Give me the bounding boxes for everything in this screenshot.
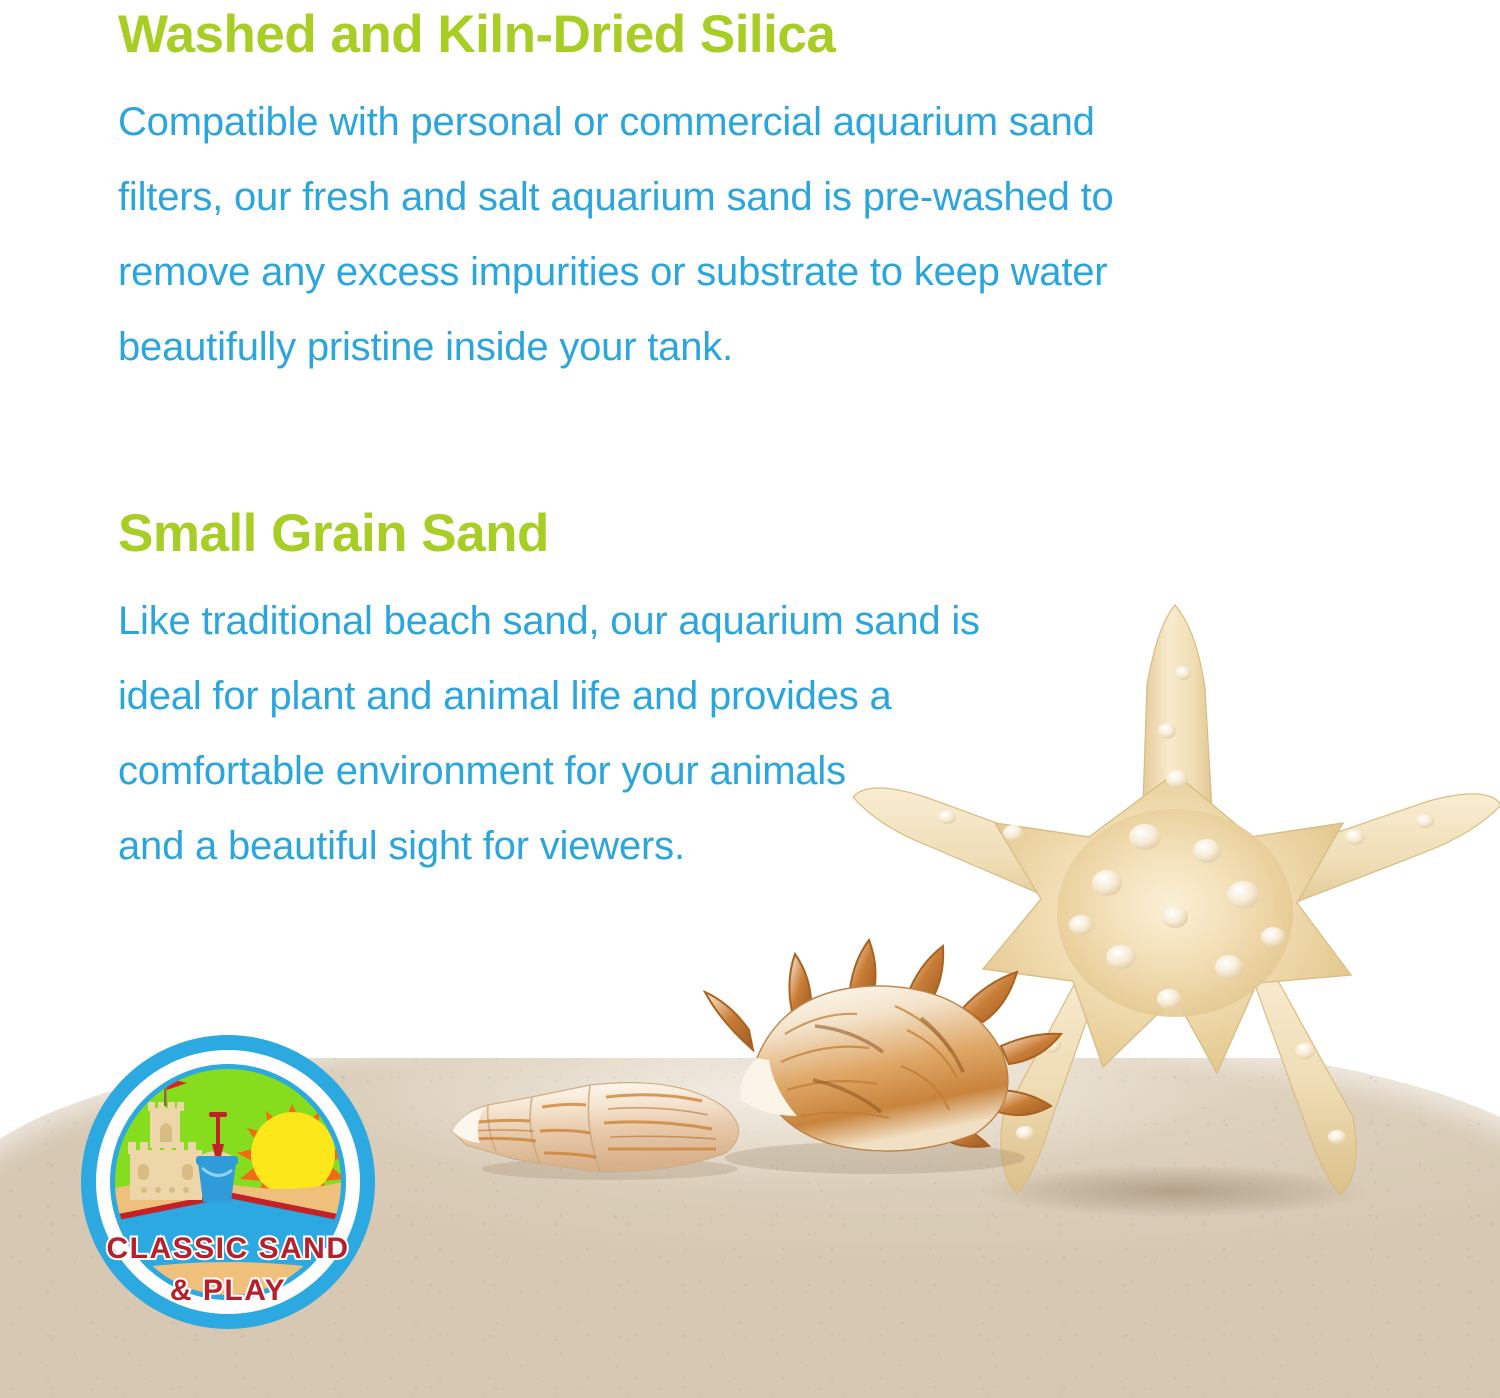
logo-line-1: CLASSIC SAND [106, 1232, 349, 1265]
paragraph-line: and a beautiful sight for viewers. [118, 809, 1378, 884]
paragraph-line: remove any excess impurities or substrat… [118, 235, 1378, 310]
section-2: Small Grain Sand Like traditional beach … [118, 469, 1378, 884]
section-1-heading: Washed and Kiln-Dried Silica [118, 6, 1378, 63]
section-1-paragraph: Compatible with personal or commercial a… [118, 85, 1378, 385]
logo-line-2: & PLAY [170, 1274, 286, 1307]
paragraph-line: Compatible with personal or commercial a… [118, 85, 1378, 160]
classic-sand-and-play-logo[interactable]: CLASSIC SAND & PLAY [78, 1032, 378, 1332]
logo-shovel-icon [216, 1116, 220, 1148]
marketing-copy: Washed and Kiln-Dried Silica Compatible … [118, 0, 1378, 884]
paragraph-line: comfortable environment for your animals [118, 734, 1378, 809]
paragraph-line: beautifully pristine inside your tank. [118, 310, 1378, 385]
section-2-paragraph: Like traditional beach sand, our aquariu… [118, 584, 1378, 884]
striped-cone-shell-image [440, 1045, 760, 1180]
section-2-heading: Small Grain Sand [118, 505, 1378, 562]
paragraph-line: Like traditional beach sand, our aquariu… [118, 584, 1378, 659]
section-1: Washed and Kiln-Dried Silica Compatible … [118, 0, 1378, 385]
paragraph-line: ideal for plant and animal life and prov… [118, 659, 1378, 734]
paragraph-line: filters, our fresh and salt aquarium san… [118, 160, 1378, 235]
section-spacer [118, 385, 1378, 469]
